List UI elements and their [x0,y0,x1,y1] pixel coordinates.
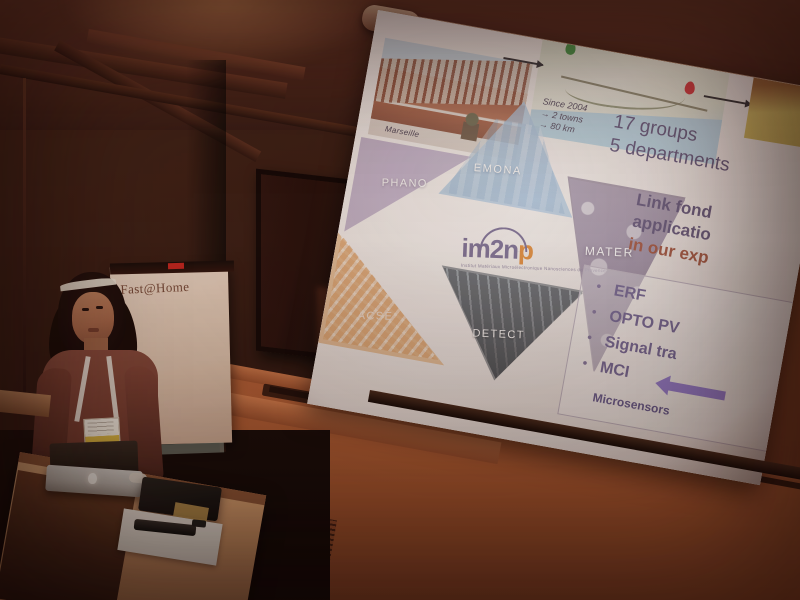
triangle-label-detect: DETECT [472,327,525,341]
presentation-room-photo: Marseille Since 2004 → 2 towns → 80 km P… [0,0,800,600]
triangle-label-acse: ACSE [358,310,394,323]
triangle-label-phano: PHANO [382,177,428,190]
projected-slide: Marseille Since 2004 → 2 towns → 80 km P… [307,10,800,485]
map-pin-red-icon [684,81,696,95]
eye-left [82,308,89,311]
presenter-remote-tip [192,519,207,527]
wall-seam [23,78,26,408]
mouth [88,328,99,332]
face [72,292,114,344]
flipchart-clamp-marker [168,263,184,269]
logo-arc-icon [479,226,528,252]
badge-text-lines [87,421,114,434]
projection-screen: Marseille Since 2004 → 2 towns → 80 km P… [307,10,800,485]
eye-right [96,306,103,309]
